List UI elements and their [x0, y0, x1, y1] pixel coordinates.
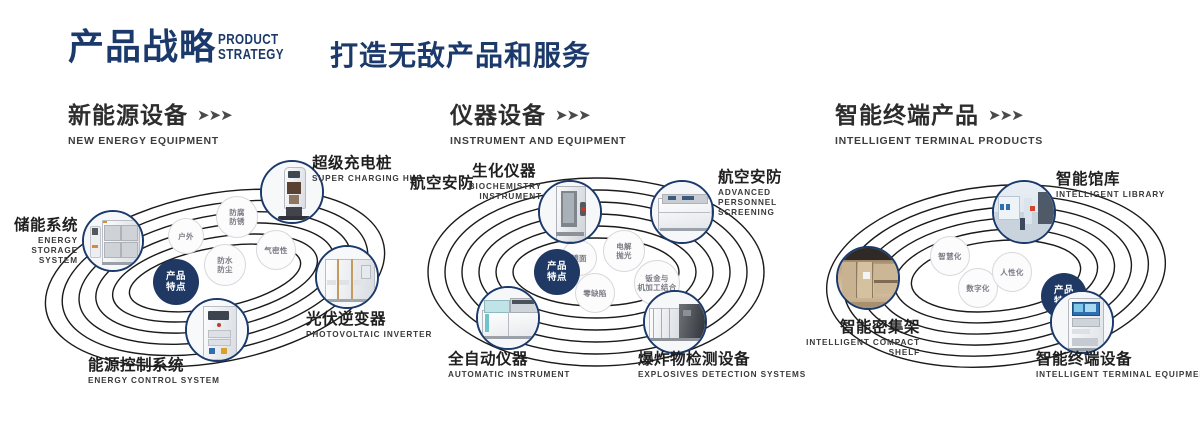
- label-explosives-detection: 爆炸物检测设备 EXPLOSIVES DETECTION SYSTEMS: [638, 350, 806, 380]
- feature-bubble: 防水 防尘: [204, 244, 246, 286]
- page-title-english-line1: PRODUCT: [218, 32, 284, 47]
- node-advanced-personnel-screening[interactable]: [650, 180, 714, 244]
- node-compact-shelf[interactable]: [836, 246, 900, 310]
- feature-bubble: 智慧化: [930, 236, 970, 276]
- cluster-instrument: 镜面 电解 抛光 零缺陷 钣金与 机加工结合 产品 特点 航空安防: [400, 150, 800, 400]
- feature-bubble: 气密性: [256, 230, 296, 270]
- section-title-cn-text: 新能源设备: [68, 103, 188, 129]
- feature-bubble: 防腐 防锈: [216, 196, 258, 238]
- feature-bubble: 人性化: [992, 252, 1032, 292]
- label-energy-storage: 储能系统 ENERGY STORAGE SYSTEM: [0, 216, 78, 266]
- chevron-right-icon: ➤➤➤: [197, 106, 232, 124]
- chevron-right-icon: ➤➤➤: [555, 106, 590, 124]
- node-automatic-instrument[interactable]: [476, 286, 540, 350]
- label-automatic-instrument: 全自动仪器 AUTOMATIC INSTRUMENT: [448, 350, 570, 380]
- node-biochemistry-instrument[interactable]: [538, 180, 602, 244]
- center-badge-product-features: 产品 特点: [535, 250, 579, 294]
- section-title-en: INSTRUMENT AND EQUIPMENT: [450, 135, 626, 147]
- node-energy-control[interactable]: [185, 298, 249, 362]
- section-title-cn-text: 智能终端产品: [835, 103, 979, 129]
- section-head-terminal: 智能终端产品➤➤➤ INTELLIGENT TERMINAL PRODUCTS: [835, 96, 1043, 147]
- section-title-cn-text: 仪器设备: [450, 103, 546, 129]
- node-intelligent-library[interactable]: [992, 180, 1056, 244]
- label-intelligent-library: 智能馆库 INTELLIGENT LIBRARY: [1056, 170, 1165, 200]
- node-energy-storage[interactable]: [82, 210, 144, 272]
- feature-bubble: 电解 抛光: [603, 230, 645, 272]
- cluster-terminal: 智慧化 数字化 人性化 产品 特点 智能馆库: [800, 150, 1200, 400]
- page-header: 产品战略 PRODUCT STRATEGY 打造无敌产品和服务: [0, 0, 1200, 86]
- label-energy-control: 能源控制系统 ENERGY CONTROL SYSTEM: [88, 356, 220, 386]
- page-subtitle: 打造无敌产品和服务: [330, 34, 591, 74]
- page-title: 产品战略: [68, 28, 216, 68]
- section-title-en: NEW ENERGY EQUIPMENT: [68, 135, 232, 147]
- section-title-cn: 智能终端产品➤➤➤: [835, 96, 1043, 130]
- cluster-new-energy: 户外 防腐 防锈 防水 防尘 气密性 产品 特点: [20, 150, 420, 400]
- page-title-english: PRODUCT STRATEGY: [218, 32, 284, 62]
- page-title-english-line2: STRATEGY: [218, 47, 284, 62]
- center-badge-product-features: 产品 特点: [154, 260, 198, 304]
- section-title-cn: 新能源设备➤➤➤: [68, 96, 232, 130]
- node-self-service-kiosk[interactable]: [1050, 290, 1114, 354]
- node-explosives-detection[interactable]: [643, 290, 707, 354]
- label-biochemistry-instrument: 生化仪器 BIOCHEMISTRY INSTRUMENT: [472, 162, 542, 202]
- label-compact-shelf: 智能密集架 INTELLIGENT COMPACT SHELF: [790, 318, 920, 358]
- section-title-en: INTELLIGENT TERMINAL PRODUCTS: [835, 135, 1043, 147]
- label-advanced-personnel-screening: 航空安防 ADVANCED PERSONNEL SCREENING: [718, 168, 804, 218]
- section-title-cn: 仪器设备➤➤➤: [450, 96, 626, 130]
- label-self-service-kiosk: 智能终端设备 INTELLIGENT TERMINAL EQUIPMENT: [1036, 350, 1200, 380]
- chevron-right-icon: ➤➤➤: [988, 106, 1023, 124]
- product-strategy-infographic: 产品战略 PRODUCT STRATEGY 打造无敌产品和服务 新能源设备➤➤➤…: [0, 0, 1200, 422]
- section-head-instrument: 仪器设备➤➤➤ INSTRUMENT AND EQUIPMENT: [450, 96, 626, 147]
- node-pv-inverter[interactable]: [315, 245, 379, 309]
- feature-bubble: 零缺陷: [575, 273, 615, 313]
- section-head-new-energy: 新能源设备➤➤➤ NEW ENERGY EQUIPMENT: [68, 96, 232, 147]
- feature-bubble: 户外: [168, 218, 204, 254]
